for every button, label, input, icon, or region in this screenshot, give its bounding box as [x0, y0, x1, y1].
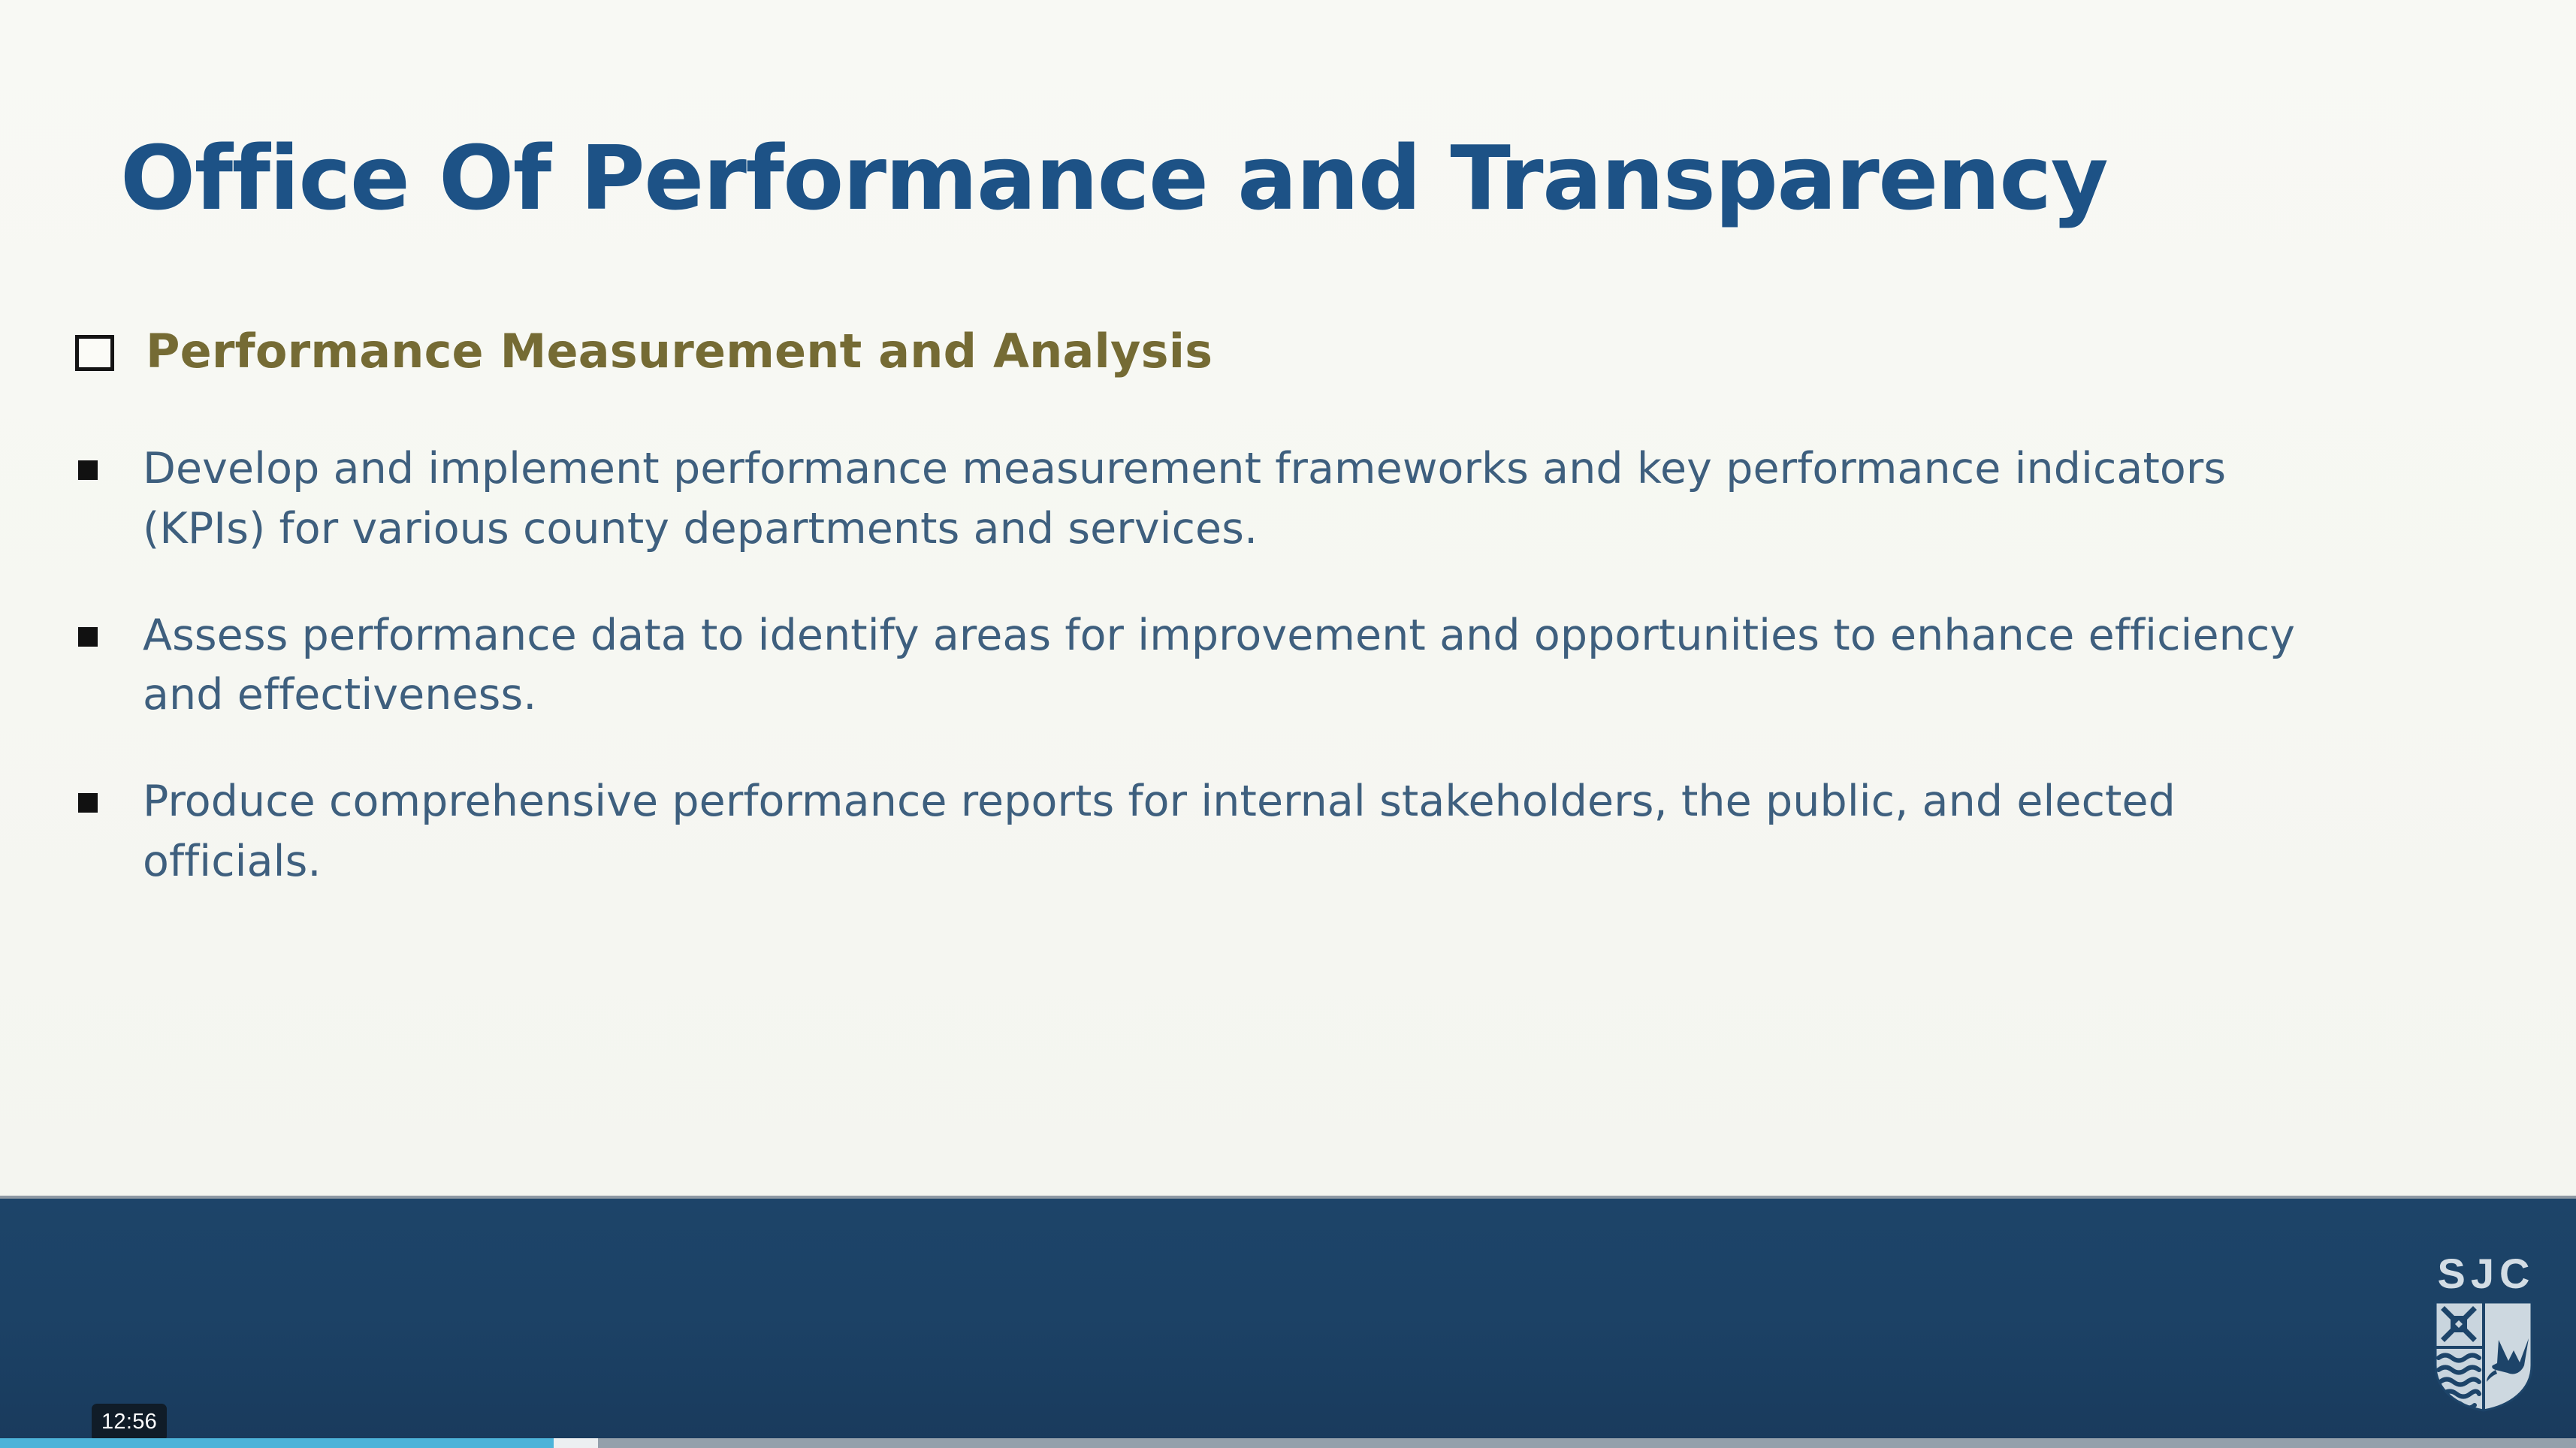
sjc-wordmark: SJC	[2427, 1253, 2540, 1295]
list-item: Assess performance data to identify area…	[75, 606, 2427, 726]
square-bullet-icon	[78, 627, 98, 647]
slide-subheading-row: Performance Measurement and Analysis	[75, 327, 1213, 376]
video-progress-fill	[0, 1438, 554, 1448]
checkbox-square-icon	[75, 335, 114, 371]
square-bullet-icon	[78, 460, 98, 480]
slide-subheading-label: Performance Measurement and Analysis	[146, 327, 1213, 376]
shield-right-half	[2484, 1301, 2533, 1412]
bullet-text: Assess performance data to identify area…	[143, 606, 2314, 726]
bullet-text: Produce comprehensive performance report…	[143, 772, 2314, 892]
presentation-slide: Office Of Performance and Transparency P…	[0, 0, 2576, 1196]
sjc-shield-icon	[2434, 1301, 2533, 1412]
slide-content: Office Of Performance and Transparency P…	[0, 0, 2576, 1196]
shield-vertical-divider	[2482, 1301, 2485, 1412]
list-item: Develop and implement performance measur…	[75, 439, 2427, 560]
shield-top-left-field	[2434, 1301, 2484, 1347]
video-progress-bar[interactable]	[0, 1438, 2576, 1448]
shield-horizontal-divider	[2434, 1346, 2484, 1349]
video-timestamp: 12:56	[92, 1404, 167, 1441]
checkbox-face	[75, 335, 114, 371]
slide-bullet-list: Develop and implement performance measur…	[75, 439, 2427, 939]
bullet-text: Develop and implement performance measur…	[143, 439, 2314, 560]
list-item: Produce comprehensive performance report…	[75, 772, 2427, 892]
sjc-logo: SJC	[2427, 1253, 2540, 1412]
square-bullet-icon	[78, 793, 98, 813]
video-player-screen: Office Of Performance and Transparency P…	[0, 0, 2576, 1448]
slide-footer-band: SJC	[0, 1196, 2576, 1448]
slide-title: Office Of Performance and Transparency	[120, 131, 2464, 225]
